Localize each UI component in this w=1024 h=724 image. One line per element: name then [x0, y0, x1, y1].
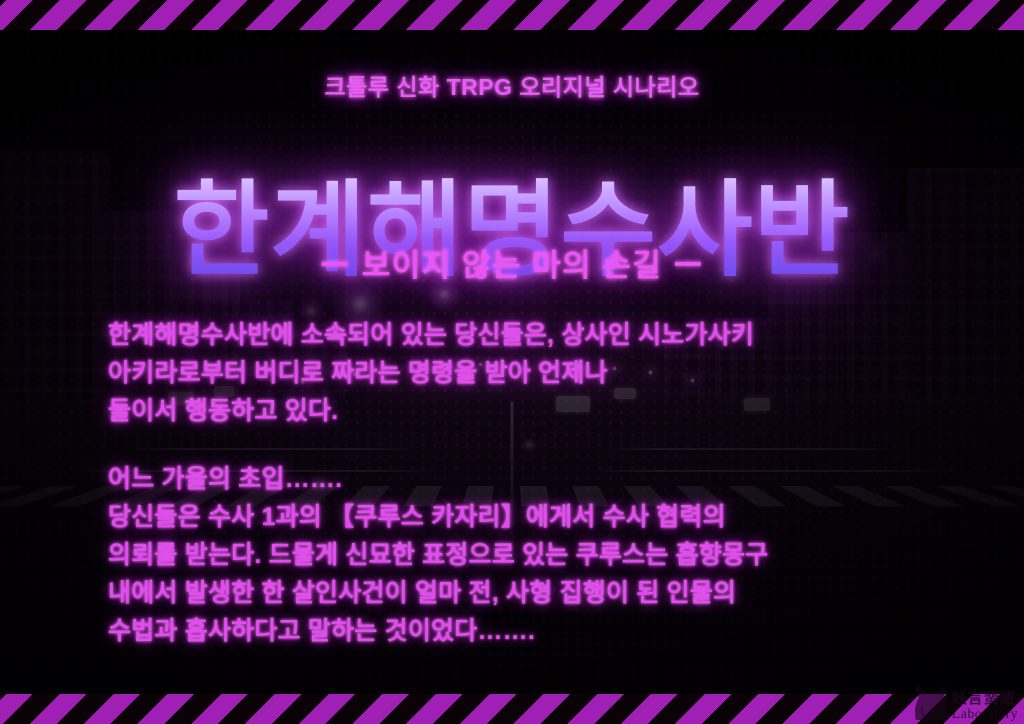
- scenario-poster: 크툴루 신화 TRPG 오리지널 시나리오 한계해명수사반 ー 보이지 않는 마…: [0, 0, 1024, 724]
- supertitle: 크툴루 신화 TRPG 오리지널 시나리오: [0, 68, 1024, 102]
- body-line: 어느 가을의 초입…….: [108, 460, 954, 498]
- paragraph-intro: 한계해명수사반에 소속되어 있는 당신들은, 상사인 시노가사키 아키라로부터 …: [108, 316, 954, 430]
- body-line: 수법과 흡사하다고 말하는 것이었다…….: [108, 612, 954, 650]
- watermark-cn: 妖言蜚語: [952, 691, 1016, 706]
- body-line: 한계해명수사반에 소속되어 있는 당신들은, 상사인 시노가사키: [108, 316, 954, 354]
- body-text: 한계해명수사반에 소속되어 있는 당신들은, 상사인 시노가사키 아키라로부터 …: [108, 316, 954, 650]
- body-line: 아키라로부터 버디로 짜라는 명령을 받아 언제나: [108, 354, 954, 392]
- body-line: 둘이서 행동하고 있다.: [108, 392, 954, 430]
- watermark-en: Laboratory: [952, 708, 1018, 722]
- body-line: 내에서 발생한 한 살인사건이 얼마 전, 사형 집행이 된 인물의: [108, 574, 954, 612]
- tagline: ー 보이지 않는 마의 손길 ー: [0, 240, 1024, 285]
- cat-silhouette-icon: [908, 682, 950, 722]
- paragraph-hook: 어느 가을의 초입……. 당신들은 수사 1과의 【쿠루스 카자리】에게서 수사…: [108, 460, 954, 650]
- body-line: 당신들은 수사 1과의 【쿠루스 카자리】에게서 수사 협력의: [108, 498, 954, 536]
- poster-content: 크툴루 신화 TRPG 오리지널 시나리오 한계해명수사반 ー 보이지 않는 마…: [0, 0, 1024, 724]
- watermark-text: 妖言蜚語 Laboratory: [952, 691, 1018, 722]
- watermark: 妖言蜚語 Laboratory: [908, 682, 1018, 722]
- body-line: 의뢰를 받는다. 드물게 신묘한 표정으로 있는 쿠루스는 흡향몽구: [108, 536, 954, 574]
